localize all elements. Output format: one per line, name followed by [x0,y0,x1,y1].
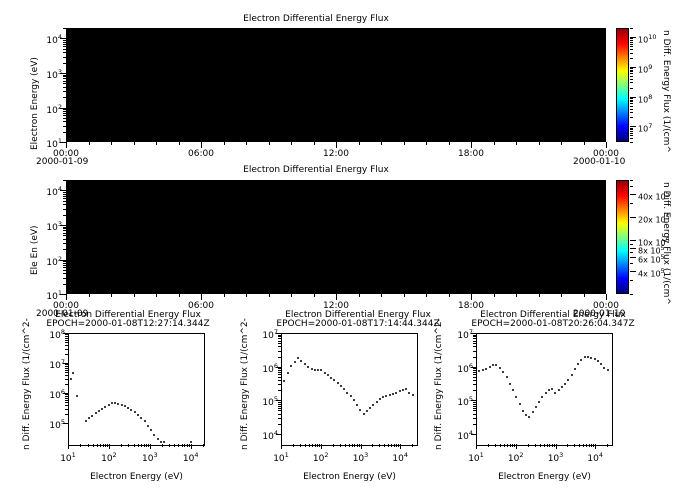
y-minor-tick [65,398,68,399]
data-point [597,360,599,362]
x-minor-tick [584,142,585,145]
data-point [506,376,508,378]
x-minor-tick [528,444,529,447]
colorbar-minor-tick [630,71,633,72]
x-minor-tick [449,142,450,145]
colorbar-minor-tick [630,133,633,134]
x-minor-tick [449,294,450,297]
y-minor-tick [473,380,476,381]
colorbar-minor-tick [630,98,633,99]
y-minor-tick [278,351,281,352]
y-minor-tick [63,109,66,110]
x-minor-tick [583,444,584,447]
x-minor-tick [500,444,501,447]
colorbar-minor-tick [630,68,633,69]
y-minor-tick [278,336,281,337]
x-major-tick [321,444,322,449]
data-point [287,372,289,374]
x-tick-label: 103 [540,451,572,464]
data-point [340,385,342,387]
y-minor-tick [65,345,68,346]
data-point [300,360,302,362]
x-minor-tick [554,444,555,447]
y-tick-label: 102 [38,103,62,116]
colorbar-tick-label: 107 [638,122,652,134]
data-point [502,371,504,373]
data-point [72,372,74,374]
data-point [587,356,589,358]
colorbar-minor-tick [630,88,633,89]
y-minor-tick [63,239,66,240]
colorbar-minor-tick [630,73,633,74]
y-minor-tick [65,368,68,369]
y-minor-tick [63,63,66,64]
spectrogram-bottom-colorbar-label: n Diff. Energy Flux (1/(cm^ [661,182,671,305]
y-minor-tick [65,354,68,355]
x-minor-tick [105,444,106,447]
data-point [495,364,497,366]
data-point [350,395,352,397]
x-minor-tick [379,444,380,447]
spectrum-2-plot[interactable] [281,333,418,446]
x-major-tick [361,444,362,449]
colorbar-major-tick [630,271,636,272]
y-minor-tick [63,209,66,210]
y-minor-tick [473,357,476,358]
y-minor-tick [278,410,281,411]
data-point [522,410,524,412]
y-minor-tick [63,235,66,236]
x-minor-tick [547,444,548,447]
y-minor-tick [63,111,66,112]
y-minor-tick [278,372,281,373]
x-tick-label: 101 [52,451,84,464]
data-point [545,392,547,394]
y-minor-tick [63,198,66,199]
x-minor-tick [187,444,188,447]
x-minor-tick [359,444,360,447]
y-minor-tick [473,336,476,337]
colorbar-major-tick [630,257,636,258]
x-minor-tick [396,444,397,447]
x-minor-tick [586,444,587,447]
x-minor-tick [314,142,315,145]
data-point [574,368,576,370]
data-point [85,420,87,422]
colorbar-minor-tick [630,252,633,253]
y-minor-tick [65,379,68,380]
y-minor-tick [63,180,66,181]
spectrum-3-plot[interactable] [476,333,613,446]
colorbar-minor-tick [630,142,633,143]
x-minor-tick [146,444,147,447]
colorbar-minor-tick [630,53,633,54]
data-point [515,396,517,398]
data-point [163,441,165,443]
x-minor-tick [144,444,145,447]
x-minor-tick [309,444,310,447]
colorbar-major-tick [630,97,636,98]
x-minor-tick [107,444,108,447]
data-point [304,363,306,365]
data-point [551,388,553,390]
y-minor-tick [63,243,66,244]
x-minor-tick [179,142,180,145]
data-point [346,392,348,394]
y-minor-tick [473,343,476,344]
y-minor-tick [473,414,476,415]
x-minor-tick [516,142,517,145]
x-minor-tick [345,444,346,447]
data-point [519,403,521,405]
data-point [382,396,384,398]
y-tick-label: 106 [38,388,65,401]
x-major-tick [66,294,67,300]
colorbar-minor-tick [630,117,633,118]
colorbar-major-tick [630,194,636,195]
colorbar-minor-tick [630,106,633,107]
data-point [317,369,319,371]
spectrum-3-xlabel: Electron Energy (eV) [476,472,613,482]
y-tick-label: 103 [38,220,62,233]
colorbar-tick-label: 108 [638,93,652,105]
x-minor-tick [359,294,360,297]
data-point [600,363,602,365]
y-minor-tick [278,338,281,339]
y-minor-tick [473,384,476,385]
x-minor-tick [293,444,294,447]
y-minor-tick [278,406,281,407]
colorbar-tick-label: 1010 [638,33,656,45]
y-minor-tick [65,334,68,335]
y-minor-tick [278,346,281,347]
x-major-tick [281,444,282,449]
data-point [314,369,316,371]
x-tick-label: 101 [265,451,297,464]
y-tick-label: 104 [251,429,278,442]
data-point [525,414,527,416]
y-minor-tick [63,284,66,285]
y-minor-tick [63,233,66,234]
data-point [538,401,540,403]
data-point [478,370,480,372]
data-point [307,366,309,368]
data-point [353,399,355,401]
colorbar-minor-tick [630,103,633,104]
x-minor-tick [552,444,553,447]
x-major-tick [66,142,67,148]
x-major-tick [336,294,337,300]
data-point [114,402,116,404]
x-minor-tick [134,294,135,297]
x-minor-tick [561,294,562,297]
colorbar-minor-tick [630,112,633,113]
x-major-tick [606,294,607,300]
y-minor-tick [473,408,476,409]
x-minor-tick [381,142,382,145]
y-tick-label: 103 [38,68,62,81]
x-major-tick [471,294,472,300]
colorbar-major-tick [630,37,636,38]
data-point [366,410,368,412]
y-minor-tick [63,52,66,53]
y-minor-tick [63,76,66,77]
x-minor-tick [315,444,316,447]
y-minor-tick [473,372,476,373]
colorbar-major-tick [630,67,636,68]
x-minor-tick [179,294,180,297]
data-point [343,388,345,390]
y-minor-tick [65,402,68,403]
colorbar-minor-tick [630,40,633,41]
data-point [482,369,484,371]
x-minor-tick [314,294,315,297]
x-minor-tick [111,294,112,297]
y-minor-tick [473,406,476,407]
x-minor-tick [305,444,306,447]
data-point [512,389,514,391]
colorbar-minor-tick [630,49,633,50]
y-minor-tick [473,351,476,352]
x-minor-tick [394,444,395,447]
data-point [402,389,404,391]
data-point [485,368,487,370]
x-minor-tick [535,444,536,447]
colorbar-major-tick [630,240,636,241]
y-minor-tick [65,364,68,365]
spectrum-1-plot[interactable] [68,333,205,446]
y-minor-tick [278,357,281,358]
x-major-tick [336,142,337,148]
data-point [564,383,566,385]
data-point [584,356,586,358]
x-major-tick [471,142,472,148]
x-minor-tick [574,444,575,447]
y-minor-tick [278,370,281,371]
x-tick-label: 104 [175,451,207,464]
x-minor-tick [426,294,427,297]
x-minor-tick [103,444,104,447]
y-tick-label: 104 [38,33,62,46]
x-tick-label: 102 [305,451,337,464]
x-minor-tick [134,444,135,447]
x-minor-tick [412,444,413,447]
x-minor-tick [189,444,190,447]
data-point [558,389,560,391]
x-minor-tick [174,444,175,447]
colorbar-minor-tick [630,46,633,47]
x-minor-tick [121,444,122,447]
x-minor-tick [312,444,313,447]
colorbar-minor-tick [630,42,633,43]
x-minor-tick [540,444,541,447]
y-minor-tick [63,87,66,88]
data-point [532,411,534,413]
data-point [405,388,407,390]
data-point [571,374,573,376]
x-minor-tick [494,294,495,297]
spectrogram-bottom-colorbar [616,180,629,294]
y-minor-tick [63,81,66,82]
x-minor-tick [93,444,94,447]
x-minor-tick [224,142,225,145]
y-minor-tick [63,194,66,195]
x-major-tick [516,444,517,449]
data-point [577,363,579,365]
x-tick-label: 12:00 [318,149,354,159]
data-point [157,438,159,440]
y-minor-tick [473,338,476,339]
x-minor-tick [549,444,550,447]
y-minor-tick [63,57,66,58]
y-minor-tick [65,372,68,373]
data-point [294,361,296,363]
x-major-tick [400,444,401,449]
x-minor-tick [156,294,157,297]
x-minor-tick [404,294,405,297]
x-minor-tick [384,444,385,447]
x-minor-tick [88,444,89,447]
y-minor-tick [63,83,66,84]
x-tick-label: 102 [93,451,125,464]
colorbar-minor-tick [630,28,633,29]
y-minor-tick [278,380,281,381]
x-minor-tick [169,444,170,447]
x-minor-tick [291,142,292,145]
data-point [376,401,378,403]
data-point [548,389,550,391]
x-minor-tick [300,444,301,447]
x-major-tick [191,444,192,449]
x-minor-tick [539,142,540,145]
x-minor-tick [203,444,204,447]
data-point [160,441,162,443]
spectrogram-bottom-plot[interactable] [66,180,606,294]
data-point [117,403,119,405]
data-point [594,358,596,360]
x-minor-tick [317,444,318,447]
x-tick-label: 101 [460,451,492,464]
data-point [369,407,371,409]
data-point [509,383,511,385]
x-tick-label: 06:00 [183,149,219,159]
colorbar-minor-tick [630,138,633,139]
y-tick-label: 107 [251,328,278,341]
y-tick-label: 105 [251,395,278,408]
data-point [76,395,78,397]
spectrum-2-ylabel: n Diff. Energy Flux (1/(cm^2- [240,318,250,450]
y-minor-tick [65,396,68,397]
x-minor-tick [561,142,562,145]
y-minor-tick [65,349,68,350]
y-minor-tick [65,394,68,395]
spectrogram-top-xstart-date: 2000-01-09 [36,157,88,167]
y-minor-tick [473,418,476,419]
y-minor-tick [278,341,281,342]
y-minor-tick [278,404,281,405]
y-minor-tick [278,408,281,409]
y-tick-label: 105 [446,395,473,408]
data-point [98,410,100,412]
x-minor-tick [579,444,580,447]
y-minor-tick [63,201,66,202]
colorbar-minor-tick [630,38,633,39]
x-major-tick [201,142,202,148]
spectrogram-top-colorbar [616,28,629,142]
data-point [333,379,335,381]
y-minor-tick [63,115,66,116]
y-tick-label: 107 [38,358,65,371]
data-point [153,434,155,436]
spectrum-3-ylabel: n Diff. Energy Flux (1/(cm^2- [434,318,444,450]
data-point [95,412,97,414]
x-minor-tick [544,444,545,447]
x-minor-tick [354,444,355,447]
data-point [561,386,563,388]
data-point [492,364,494,366]
x-minor-tick [141,444,142,447]
x-minor-tick [148,444,149,447]
x-minor-tick [352,444,353,447]
colorbar-minor-tick [630,76,633,77]
y-minor-tick [63,49,66,50]
x-minor-tick [381,294,382,297]
y-minor-tick [63,249,66,250]
x-tick-label: 103 [345,451,377,464]
data-point [372,404,374,406]
data-point [356,404,358,406]
colorbar-minor-tick [630,263,633,264]
colorbar-minor-tick [630,294,633,295]
x-minor-tick [349,444,350,447]
x-minor-tick [134,142,135,145]
y-minor-tick [65,414,68,415]
y-tick-label: 105 [38,418,65,431]
x-minor-tick [510,444,511,447]
y-minor-tick [63,121,66,122]
x-minor-tick [388,444,389,447]
x-tick-label: 102 [500,451,532,464]
data-point [108,404,110,406]
data-point [104,406,106,408]
data-point [395,392,397,394]
y-minor-tick [473,377,476,378]
y-minor-tick [278,418,281,419]
data-point [580,359,582,361]
y-minor-tick [278,384,281,385]
y-minor-tick [63,132,66,133]
y-tick-label: 102 [38,255,62,268]
colorbar-minor-tick [630,129,633,130]
x-minor-tick [507,444,508,447]
y-minor-tick [65,336,68,337]
x-minor-tick [589,444,590,447]
colorbar-major-tick [630,126,636,127]
y-minor-tick [63,263,66,264]
data-point [320,369,322,371]
data-point [408,392,410,394]
colorbar-minor-tick [630,70,633,71]
data-point [140,417,142,419]
y-minor-tick [473,402,476,403]
data-point [324,372,326,374]
x-minor-tick [591,444,592,447]
data-point [607,369,609,371]
spectrogram-top-plot[interactable] [66,28,606,142]
x-minor-tick [184,444,185,447]
y-tick-label: 104 [38,185,62,198]
x-minor-tick [80,444,81,447]
